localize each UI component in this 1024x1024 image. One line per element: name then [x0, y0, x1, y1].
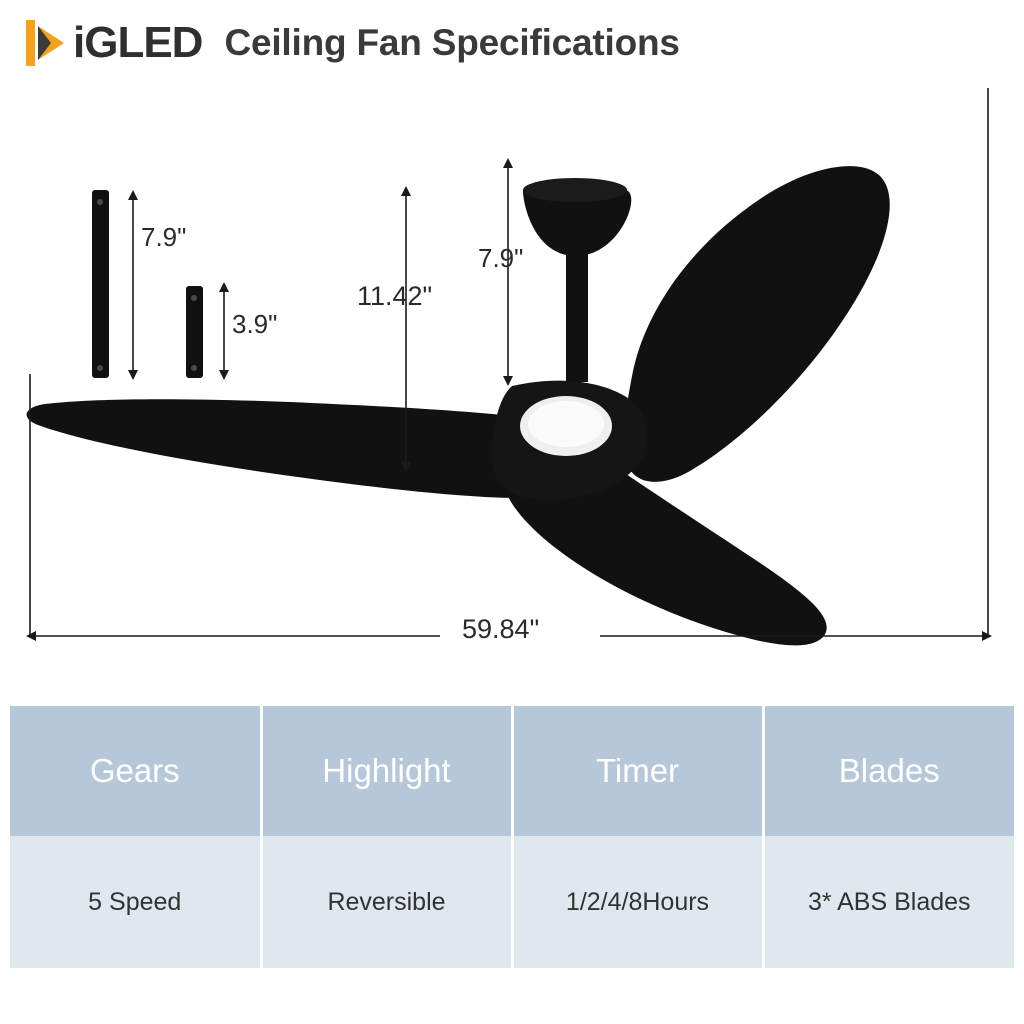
dimension-label-downrod-short: 3.9" [232, 309, 277, 340]
cell-blades: 3* ABS Blades [763, 836, 1014, 968]
digled-logo-icon [26, 18, 72, 68]
table-header-row: Gears Highlight Timer Blades [10, 706, 1014, 836]
fan-downrod [566, 252, 588, 382]
page-header: iGLED Ceiling Fan Specifications [0, 0, 1024, 86]
fan-blade-left [27, 399, 551, 498]
dimension-label-downrod-long: 7.9" [141, 222, 186, 253]
ceiling-fan-dimension-drawing: 7.9" 3.9" 11.42" 7.9" 59.84" [0, 86, 1024, 694]
column-header-blades: Blades [763, 706, 1014, 836]
dimension-label-rod-height: 7.9" [478, 243, 523, 274]
brand-logo: iGLED [26, 17, 202, 69]
fan-illustration [0, 86, 1024, 694]
specifications-table: Gears Highlight Timer Blades 5 Speed Rev… [10, 706, 1014, 968]
dimension-label-total-height: 11.42" [357, 281, 432, 312]
cell-highlight: Reversible [261, 836, 512, 968]
fan-blade-top-right [624, 166, 890, 482]
column-header-highlight: Highlight [261, 706, 512, 836]
fan-light-lens [528, 401, 604, 447]
fan-canopy-top [523, 178, 627, 202]
column-header-timer: Timer [512, 706, 763, 836]
cell-gears: 5 Speed [10, 836, 261, 968]
table-row: 5 Speed Reversible 1/2/4/8Hours 3* ABS B… [10, 836, 1014, 968]
downrod-long [92, 190, 109, 378]
dimension-label-blade-span: 59.84" [462, 614, 539, 645]
cell-timer: 1/2/4/8Hours [512, 836, 763, 968]
page-title: Ceiling Fan Specifications [224, 22, 679, 64]
column-header-gears: Gears [10, 706, 261, 836]
brand-wordmark: iGLED [73, 21, 202, 65]
